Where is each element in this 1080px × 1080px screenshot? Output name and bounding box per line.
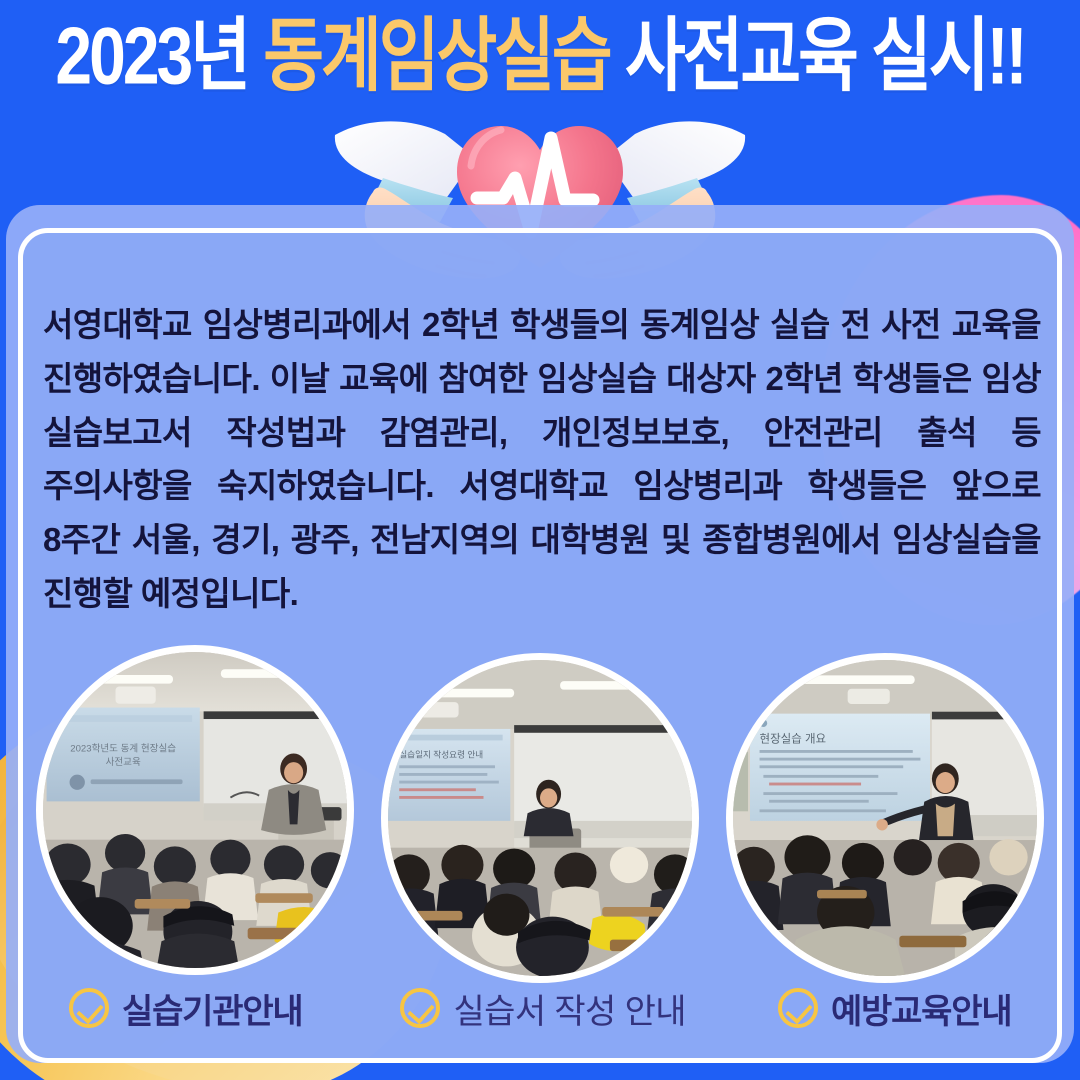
caption-item-1[interactable]: 실습기관안내 bbox=[69, 984, 302, 1033]
svg-text:사전교육: 사전교육 bbox=[106, 757, 141, 768]
title-part-1: 2023년 bbox=[55, 10, 263, 100]
photo-1[interactable]: 2023학년도 동계 현장실습 사전교육 bbox=[36, 645, 354, 975]
photo-gallery: 2023학년도 동계 현장실습 사전교육 bbox=[23, 645, 1057, 990]
caption-row: 실습기관안내 실습서 작성 안내 예방교육안내 bbox=[23, 980, 1057, 1036]
photo-3[interactable]: 현장실습 개요 bbox=[726, 653, 1044, 983]
check-circle-icon bbox=[400, 988, 440, 1028]
photo-2[interactable]: 실습일지 작성요령 안내 bbox=[381, 653, 699, 983]
caption-label-1: 실습기관안내 bbox=[122, 984, 302, 1033]
poster-canvas: 2023년 동계임상실습 사전교육 실시!! bbox=[0, 0, 1080, 1080]
caption-label-2: 실습서 작성 안내 bbox=[453, 984, 685, 1033]
caption-item-2[interactable]: 실습서 작성 안내 bbox=[400, 984, 685, 1033]
title-highlight: 동계임상실습 bbox=[263, 10, 609, 100]
caption-item-3[interactable]: 예방교육안내 bbox=[778, 984, 1011, 1033]
page-title: 2023년 동계임상실습 사전교육 실시!! bbox=[0, 14, 1080, 99]
svg-text:2023학년도 동계 현장실습: 2023학년도 동계 현장실습 bbox=[71, 744, 177, 755]
title-part-2: 사전교육 실시!! bbox=[610, 10, 1025, 100]
svg-text:실습일지 작성요령 안내: 실습일지 작성요령 안내 bbox=[399, 749, 483, 760]
check-circle-icon bbox=[778, 988, 818, 1028]
caption-label-3: 예방교육안내 bbox=[831, 984, 1011, 1033]
check-circle-icon bbox=[69, 988, 109, 1028]
body-paragraph: 서영대학교 임상병리과에서 2학년 학생들의 동계임상 실습 전 사전 교육을 … bbox=[43, 298, 1041, 621]
content-card: 서영대학교 임상병리과에서 2학년 학생들의 동계임상 실습 전 사전 교육을 … bbox=[18, 228, 1062, 1063]
svg-text:현장실습 개요: 현장실습 개요 bbox=[759, 732, 826, 745]
